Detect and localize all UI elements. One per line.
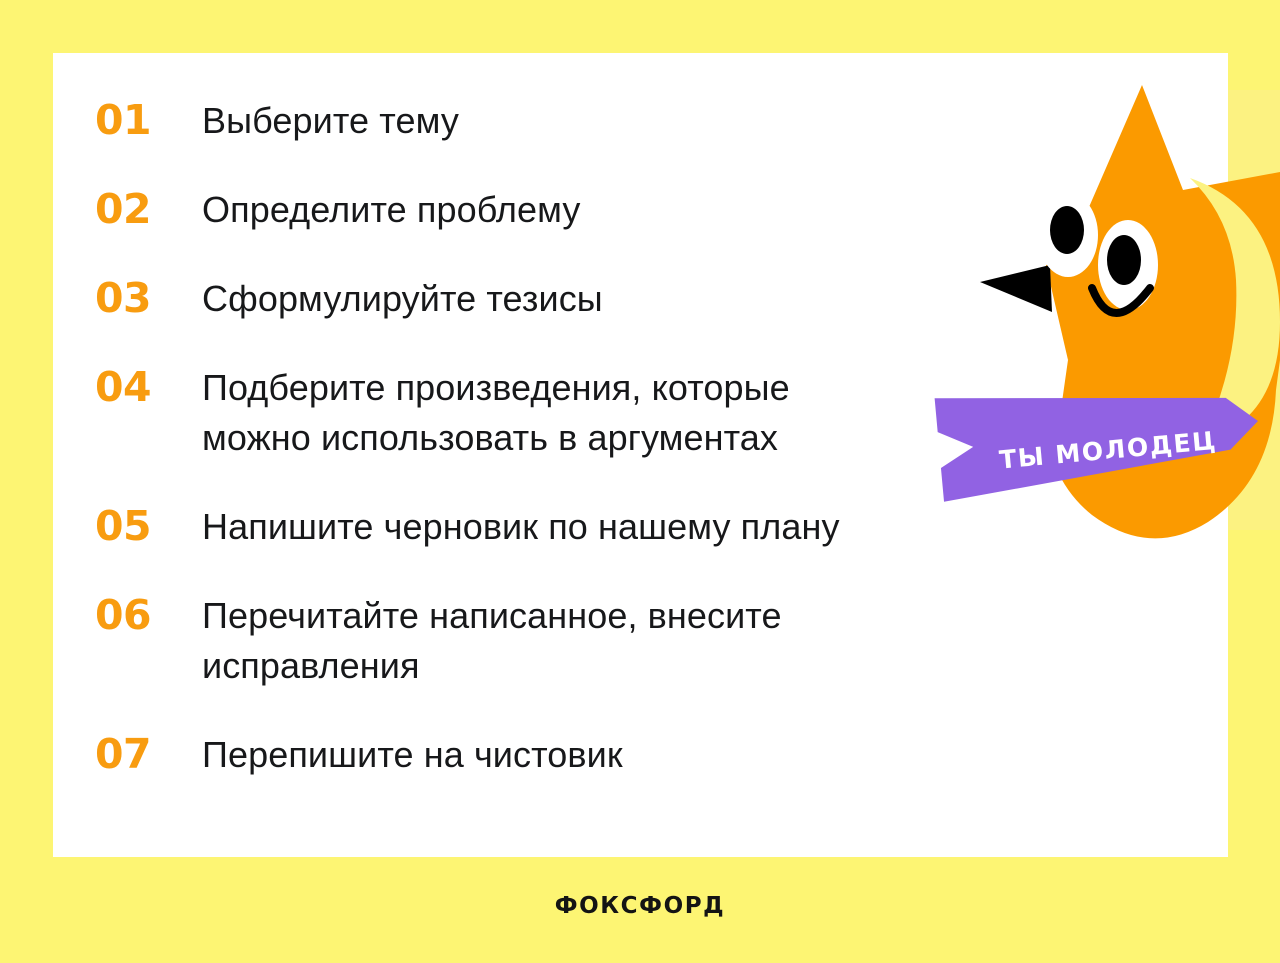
list-item-number: 03 bbox=[95, 274, 202, 323]
list-item-number: 02 bbox=[95, 185, 202, 234]
brand-logo: ФОКСФОРД bbox=[0, 893, 1280, 919]
list-item-text: Перепишите на чистовик bbox=[202, 730, 885, 780]
slide-canvas: ТЫ МОЛОДЕЦ 01 Выберите тему 02 Определит… bbox=[0, 0, 1280, 963]
list-item: 06 Перечитайте написанное, внесите испра… bbox=[95, 591, 885, 691]
list-item: 07 Перепишите на чистовик bbox=[95, 730, 885, 780]
list-item-number: 06 bbox=[95, 591, 202, 640]
list-item: 03 Сформулируйте тезисы bbox=[95, 274, 885, 324]
list-item-number: 04 bbox=[95, 363, 202, 412]
list-item-number: 07 bbox=[95, 730, 202, 779]
list-item-text: Подберите произведения, которые можно ис… bbox=[202, 363, 885, 463]
list-item-text: Перечитайте написанное, внесите исправле… bbox=[202, 591, 885, 691]
list-item: 01 Выберите тему bbox=[95, 96, 885, 146]
list-item-number: 05 bbox=[95, 502, 202, 551]
checklist: 01 Выберите тему 02 Определите проблему … bbox=[95, 96, 885, 780]
ribbon-badge: ТЫ МОЛОДЕЦ bbox=[930, 395, 1280, 505]
list-item: 02 Определите проблему bbox=[95, 185, 885, 235]
list-item-number: 01 bbox=[95, 96, 202, 145]
list-item: 05 Напишите черновик по нашему плану bbox=[95, 502, 885, 552]
list-item-text: Определите проблему bbox=[202, 185, 885, 235]
list-item-text: Напишите черновик по нашему плану bbox=[202, 502, 885, 552]
list-item: 04 Подберите произведения, которые можно… bbox=[95, 363, 885, 463]
list-item-text: Сформулируйте тезисы bbox=[202, 274, 885, 324]
list-item-text: Выберите тему bbox=[202, 96, 885, 146]
